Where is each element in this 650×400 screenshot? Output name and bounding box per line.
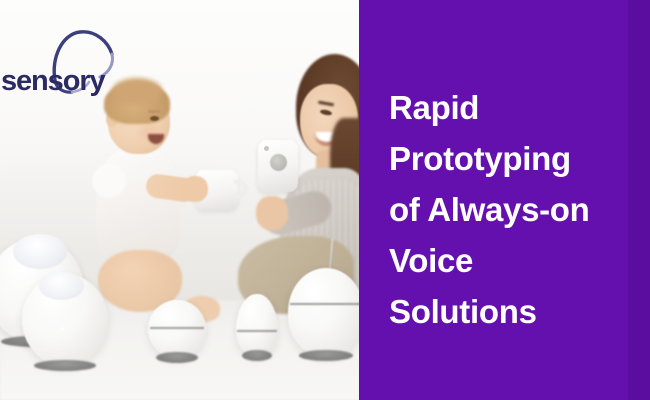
sensory-logo[interactable]: sensory [0,22,128,96]
headline-panel: Rapid Prototyping of Always-on Voice Sol… [359,0,650,400]
baby-eyebrow [148,110,160,113]
device-seam [150,327,205,329]
baby-hand [182,176,208,202]
device-base [156,352,198,363]
headline-text: Rapid Prototyping of Always-on Voice Sol… [389,82,635,337]
voice-device-4 [236,294,278,356]
device-body [236,294,278,356]
device-base [242,350,272,361]
handheld-device-led [264,146,269,151]
woman-hand [256,196,288,230]
baby-sleeve [92,164,126,198]
device-cap [39,272,84,300]
logo-wordmark: sensory [1,67,105,96]
device-body [288,268,359,356]
device-cap [13,234,67,269]
handheld-device-dial [270,154,287,171]
device-body [148,300,206,358]
voice-device-2 [22,274,108,366]
baby-eye [150,116,159,121]
device-base [299,350,354,361]
voice-device-3 [148,300,206,358]
voice-device-5 [288,268,359,356]
device-seam [237,330,276,332]
device-base [34,360,96,371]
device-seam [290,303,359,305]
webinar-banner: sensory Rapid Prototyping of Always-on V… [0,0,650,400]
